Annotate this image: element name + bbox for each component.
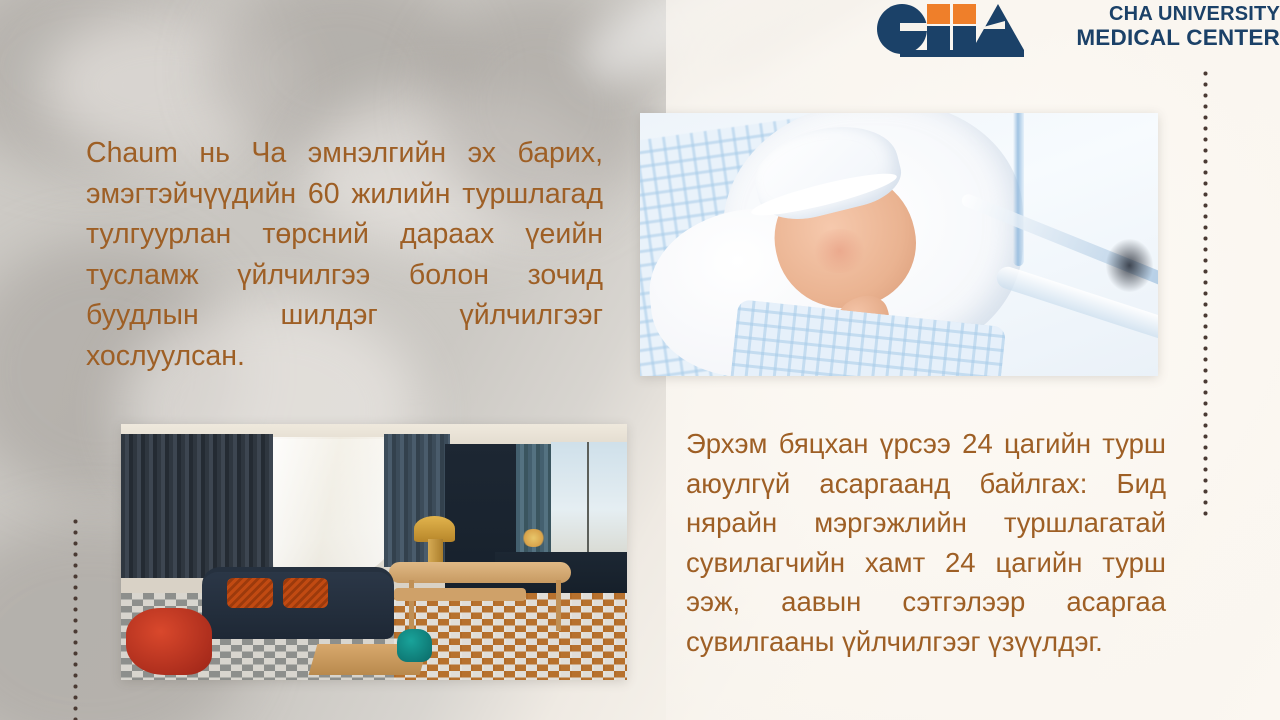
cha-logo-icon [872,4,1024,58]
table-lamp [414,516,454,542]
crib-shadow [1106,239,1153,292]
suite-photo-scene [121,424,627,680]
window-frame [587,442,589,565]
orange-cushion [227,578,273,609]
slide-canvas: CHA UNIVERSITY MEDICAL CENTER Chaum нь Ч… [0,0,1280,720]
orange-cushion [283,578,329,609]
newborn-baby-in-crib-photo [640,113,1158,376]
dotted-rule-left [73,516,78,720]
paragraph-left: Chaum нь Ча эмнэлгийн эх барих, эмэгтэйч… [86,133,603,376]
teal-vase [397,629,432,662]
paragraph-right: Эрхэм бяцхан үрсээ 24 цагийн турш аюулгү… [686,424,1166,661]
dark-curtain [121,434,273,577]
sheer-curtain [273,437,400,575]
baby-cheek [811,229,868,274]
brand-wordmark: CHA UNIVERSITY MEDICAL CENTER [1060,3,1280,51]
dotted-rule-right [1203,68,1208,516]
crib-rail [1013,113,1024,266]
table-leg [556,580,561,631]
wooden-bench [394,588,526,601]
red-throw [126,608,212,675]
hotel-suite-interior-photo [121,424,627,680]
window [551,442,627,565]
dining-table [389,562,571,582]
brand-line-2: MEDICAL CENTER [1060,25,1280,50]
brand-line-1: CHA UNIVERSITY [1060,3,1280,25]
baby-photo-scene [640,113,1158,376]
flower-vase [521,529,546,547]
